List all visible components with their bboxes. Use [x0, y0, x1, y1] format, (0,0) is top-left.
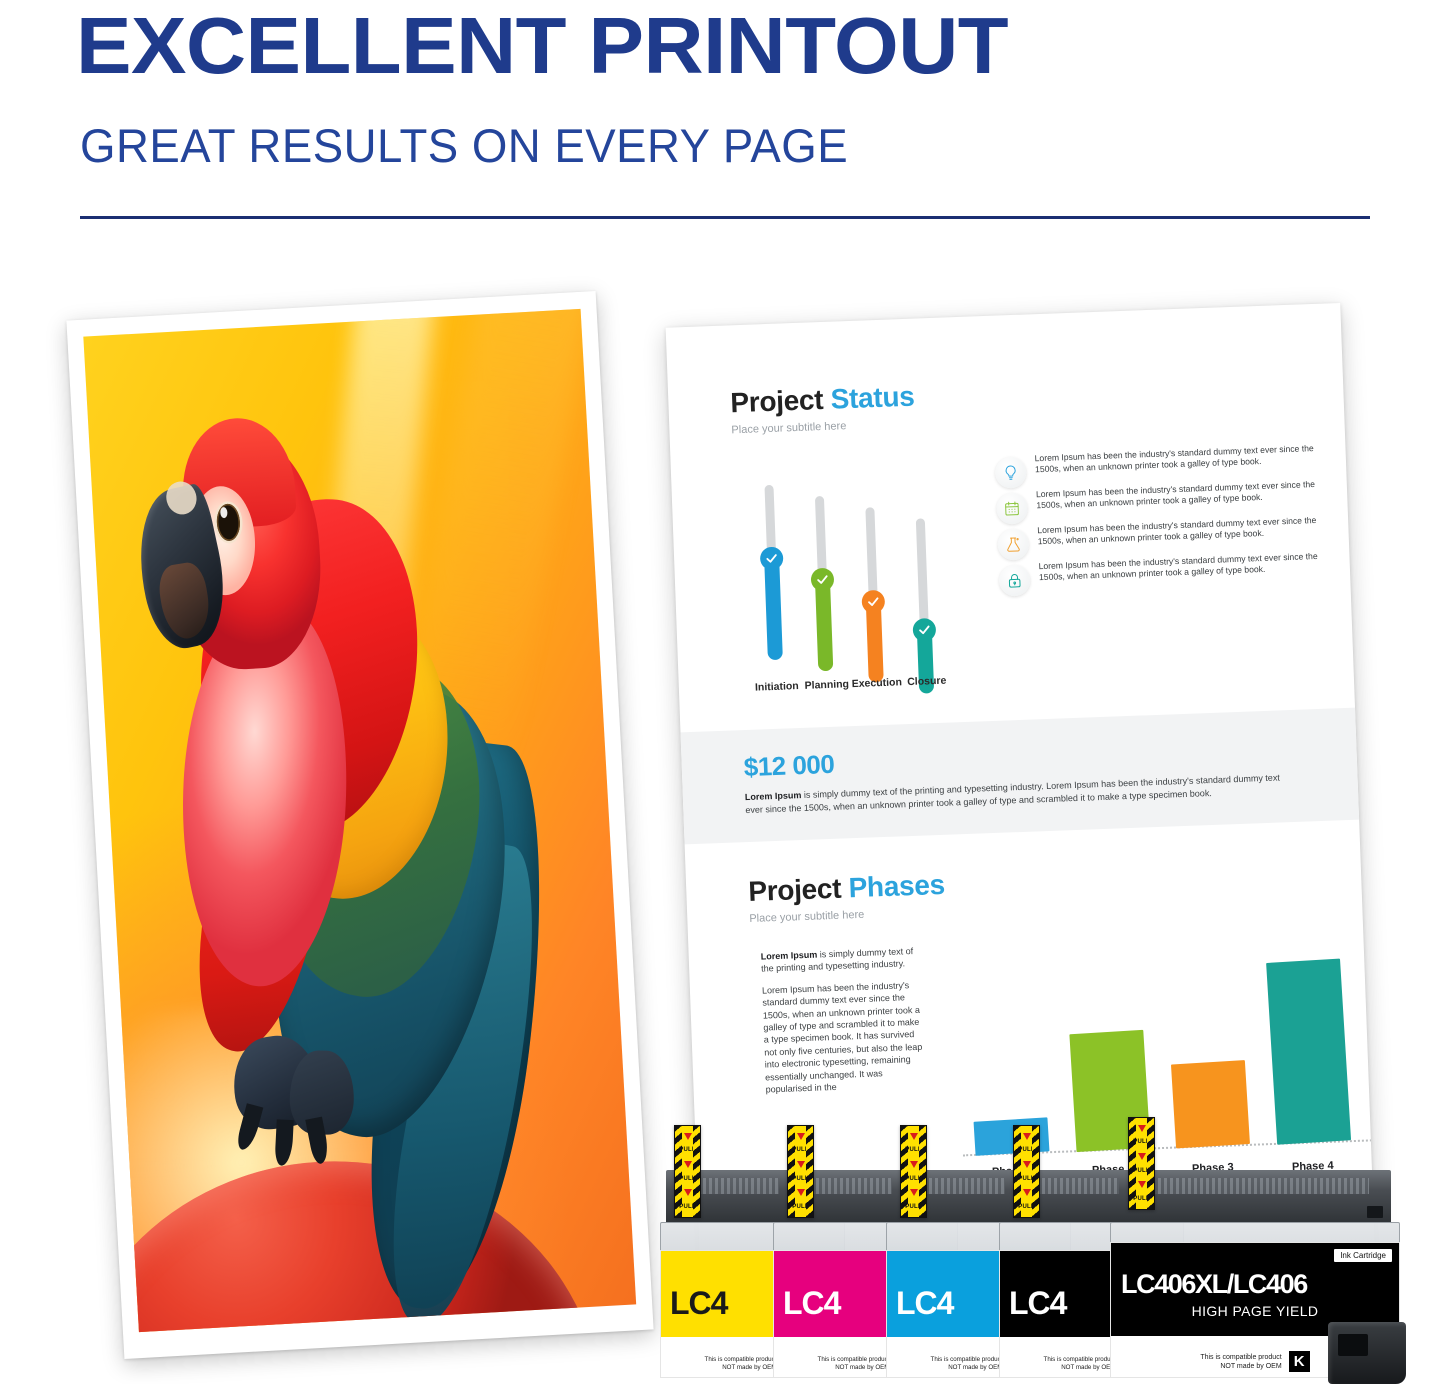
status-slider-closure[interactable] — [913, 518, 934, 693]
pull-tab-label: PULL — [679, 1204, 695, 1210]
slider-fill — [866, 601, 884, 682]
pull-tab-label: PULL — [905, 1204, 921, 1210]
pull-tab-inner: PULLPULLPULL — [682, 1126, 693, 1217]
slider-knob[interactable] — [861, 589, 885, 613]
parrot-photo-print — [66, 291, 653, 1359]
pull-tab-label: PULL — [679, 1147, 695, 1153]
pull-tab-label: PULL — [1133, 1139, 1149, 1145]
slider-label-closure: Closure — [907, 675, 947, 688]
pull-tab-label: PULL — [905, 1176, 921, 1182]
phases-paragraph-1-lead: Lorem Ipsum — [761, 950, 818, 962]
pull-tab[interactable]: PULLPULLPULL — [1128, 1117, 1155, 1210]
slider-knob[interactable] — [912, 618, 936, 642]
status-heading-prefix: Project — [730, 384, 824, 418]
phases-paragraph-2: Lorem Ipsum has been the industry's stan… — [762, 979, 926, 1096]
cartridge-model-code: LC4 — [783, 1285, 840, 1322]
pull-arrow-icon — [797, 1189, 805, 1196]
pull-tab[interactable]: PULLPULLPULL — [900, 1125, 927, 1218]
parrot-claw — [274, 1120, 293, 1167]
pull-tab-label: PULL — [792, 1204, 808, 1210]
phases-heading-prefix: Project — [748, 873, 842, 907]
pull-arrow-icon — [1023, 1161, 1031, 1168]
slider-label-initiation: Initiation — [755, 680, 799, 694]
pull-arrow-icon — [684, 1133, 692, 1140]
ink-cartridge-group: LC4This is compatible productNOT made by… — [660, 1105, 1445, 1378]
divider-rule — [80, 216, 1370, 219]
front-black-cartridge: Ink CartridgeLC406XL/LC406HIGH PAGE YIEL… — [1110, 1130, 1400, 1378]
flask-icon — [997, 529, 1029, 561]
headline-block: EXCELLENT PRINTOUT GREAT RESULTS ON EVER… — [0, 0, 1445, 240]
pull-arrow-icon — [910, 1161, 918, 1168]
status-slider-planning[interactable] — [812, 496, 833, 671]
pull-tab-inner: PULLPULLPULL — [1021, 1126, 1032, 1217]
photo-canvas — [83, 309, 636, 1332]
cartridge-chip — [1367, 1206, 1383, 1218]
pull-tab[interactable]: PULLPULLPULL — [674, 1125, 701, 1218]
cartridge-disclaimer: This is compatible productNOT made by OE… — [705, 1356, 777, 1371]
page-subtitle: GREAT RESULTS ON EVERY PAGE — [80, 118, 1244, 174]
pull-arrow-icon — [797, 1133, 805, 1140]
macaw-parrot — [128, 400, 602, 1260]
status-item-list: Lorem Ipsum has been the industry's stan… — [995, 442, 1345, 599]
pull-tab-label: PULL — [1018, 1176, 1034, 1182]
status-slider-group: InitiationPlanningExecutionClosure — [747, 478, 975, 701]
phases-paragraph-1: Lorem Ipsum is simply dummy text of the … — [761, 945, 922, 976]
slider-label-planning: Planning — [804, 678, 849, 692]
ink-cartridge-tag: Ink Cartridge — [1334, 1249, 1392, 1262]
project-status-section: Project Status Place your subtitle here … — [666, 303, 1355, 716]
phases-text-column: Lorem Ipsum is simply dummy text of the … — [761, 945, 927, 1105]
calendar-icon — [996, 493, 1028, 525]
status-item-text: Lorem Ipsum has been the industry's stan… — [1034, 442, 1340, 476]
cartridge-disclaimer: This is compatible productNOT made by OE… — [1200, 1353, 1281, 1371]
slider-knob[interactable] — [760, 546, 784, 570]
pull-tab-inner: PULLPULLPULL — [908, 1126, 919, 1217]
slider-knob[interactable] — [811, 568, 835, 592]
cartridge-model-code: LC4 — [670, 1285, 727, 1322]
pull-arrow-icon — [1023, 1133, 1031, 1140]
pull-arrow-icon — [797, 1161, 805, 1168]
pull-tab-label: PULL — [1133, 1168, 1149, 1174]
pull-arrow-icon — [910, 1189, 918, 1196]
cartridge-disclaimer: This is compatible productNOT made by OE… — [818, 1356, 890, 1371]
slider-fill — [764, 558, 783, 660]
cartridge-yield-label: HIGH PAGE YIELD — [1111, 1303, 1399, 1319]
pull-arrow-icon — [1138, 1181, 1146, 1188]
status-heading-accent: Status — [830, 381, 915, 415]
pull-arrow-icon — [684, 1161, 692, 1168]
status-slider-execution[interactable] — [862, 507, 883, 682]
cartridge-disclaimer: This is compatible productNOT made by OE… — [931, 1356, 1003, 1371]
page-title: EXCELLENT PRINTOUT — [76, 2, 1428, 90]
cartridge-model-code: LC4 — [1009, 1285, 1066, 1322]
slider-fill — [815, 580, 833, 671]
cartridge-nozzle — [1328, 1322, 1406, 1384]
pull-arrow-icon — [1138, 1125, 1146, 1132]
status-body: InitiationPlanningExecutionClosure Lorem… — [733, 442, 1355, 714]
pull-tab-inner: PULLPULLPULL — [1136, 1118, 1147, 1209]
pull-tab-label: PULL — [679, 1176, 695, 1182]
lightbulb-icon — [995, 457, 1027, 489]
pull-arrow-icon — [684, 1189, 692, 1196]
lock-icon — [999, 565, 1031, 597]
cartridge-model-code: LC406XL/LC406 — [1121, 1269, 1307, 1300]
pull-tab-label: PULL — [1018, 1204, 1034, 1210]
slider-label-execution: Execution — [852, 676, 903, 690]
cartridge-top-housing — [1119, 1170, 1392, 1222]
pull-tab-label: PULL — [792, 1176, 808, 1182]
parrot-eye-highlight — [220, 507, 227, 518]
pull-tab-inner: PULLPULLPULL — [795, 1126, 806, 1217]
pull-tab[interactable]: PULLPULLPULL — [1013, 1125, 1040, 1218]
pull-tab-label: PULL — [792, 1147, 808, 1153]
budget-lead: Lorem Ipsum — [745, 790, 802, 802]
status-slider-initiation[interactable] — [761, 485, 782, 660]
pull-tab-label: PULL — [1018, 1147, 1034, 1153]
phases-heading-accent: Phases — [848, 869, 945, 904]
cartridge-color-badge: K — [1289, 1351, 1310, 1372]
pull-arrow-icon — [1023, 1189, 1031, 1196]
pull-tab[interactable]: PULLPULLPULL — [787, 1125, 814, 1218]
pull-tab-label: PULL — [905, 1147, 921, 1153]
cartridge-model-code: LC4 — [896, 1285, 953, 1322]
pull-arrow-icon — [910, 1133, 918, 1140]
pull-arrow-icon — [1138, 1153, 1146, 1160]
cartridge-disclaimer: This is compatible productNOT made by OE… — [1044, 1356, 1116, 1371]
pull-tab-label: PULL — [1133, 1196, 1149, 1202]
